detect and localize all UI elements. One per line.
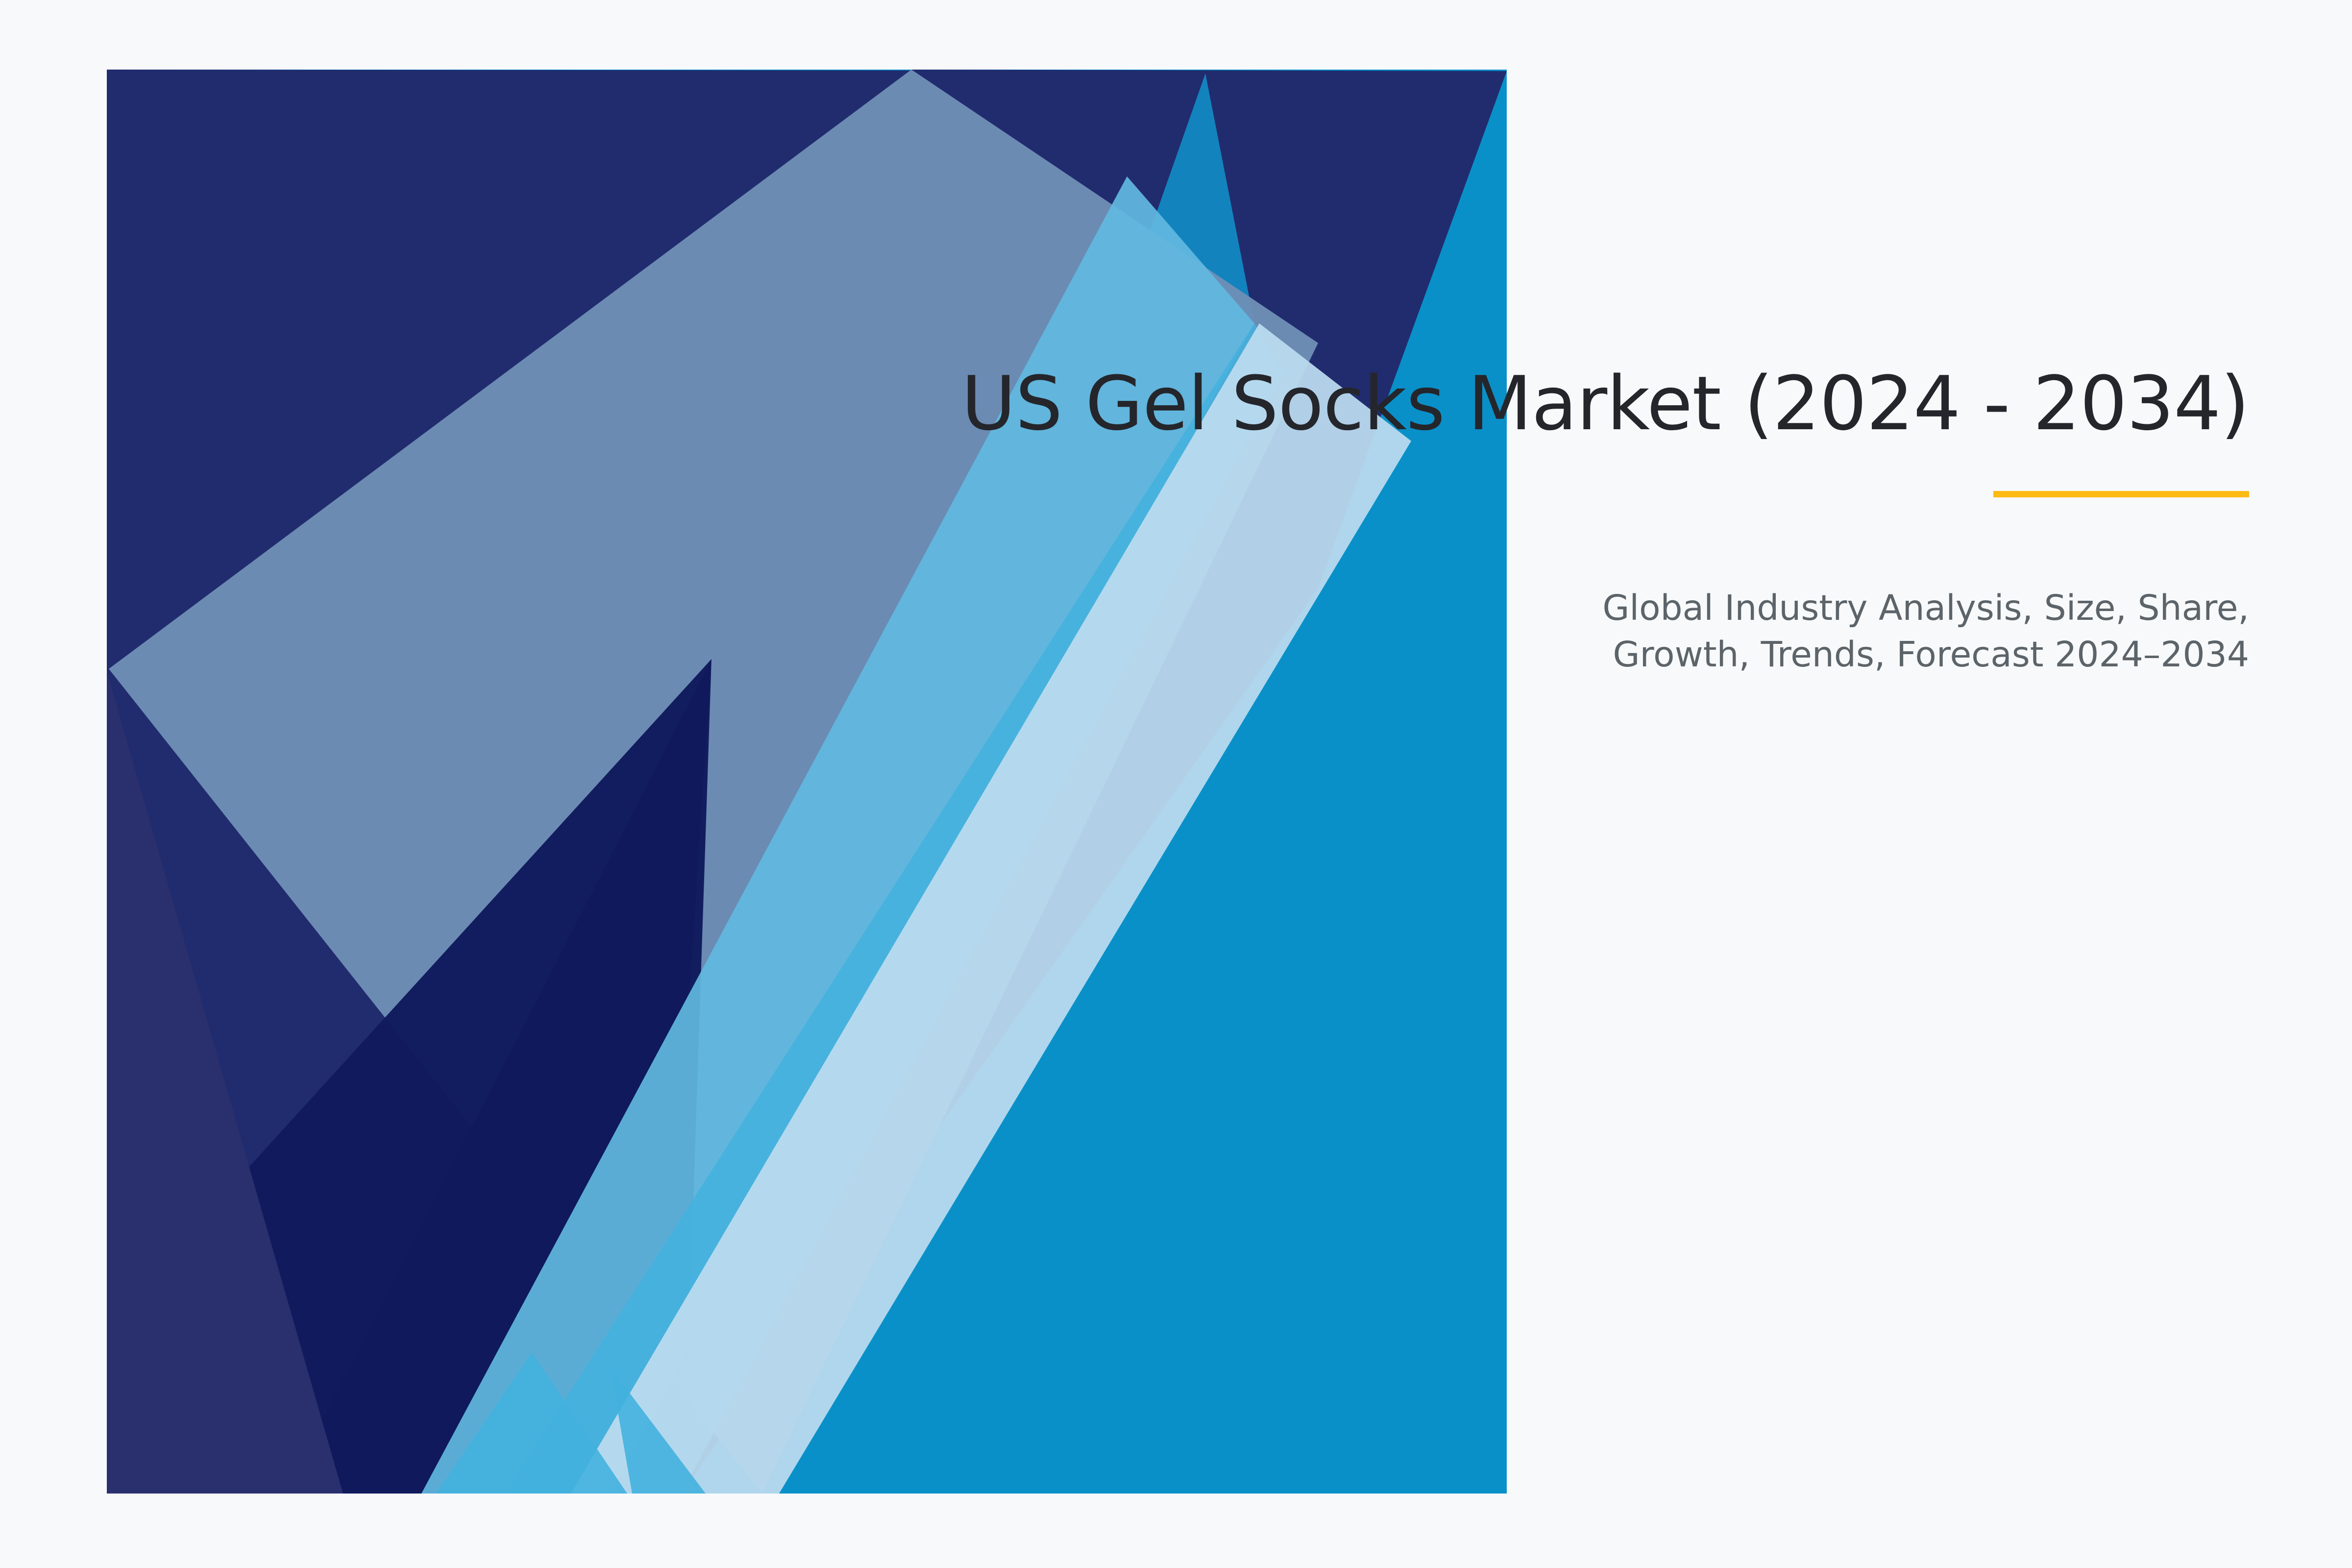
- report-cover-page: US Gel Socks Market (2024 - 2034) Global…: [0, 0, 2352, 1568]
- page-subtitle: Global Industry Analysis, Size, Share, G…: [784, 585, 2249, 678]
- cover-text-block: US Gel Socks Market (2024 - 2034) Global…: [784, 364, 2249, 678]
- page-title: US Gel Socks Market (2024 - 2034): [784, 364, 2249, 444]
- accent-rule-wrapper: [784, 491, 2249, 497]
- abstract-geometric-artwork: [0, 0, 2352, 1568]
- accent-rule-divider: [1993, 491, 2249, 497]
